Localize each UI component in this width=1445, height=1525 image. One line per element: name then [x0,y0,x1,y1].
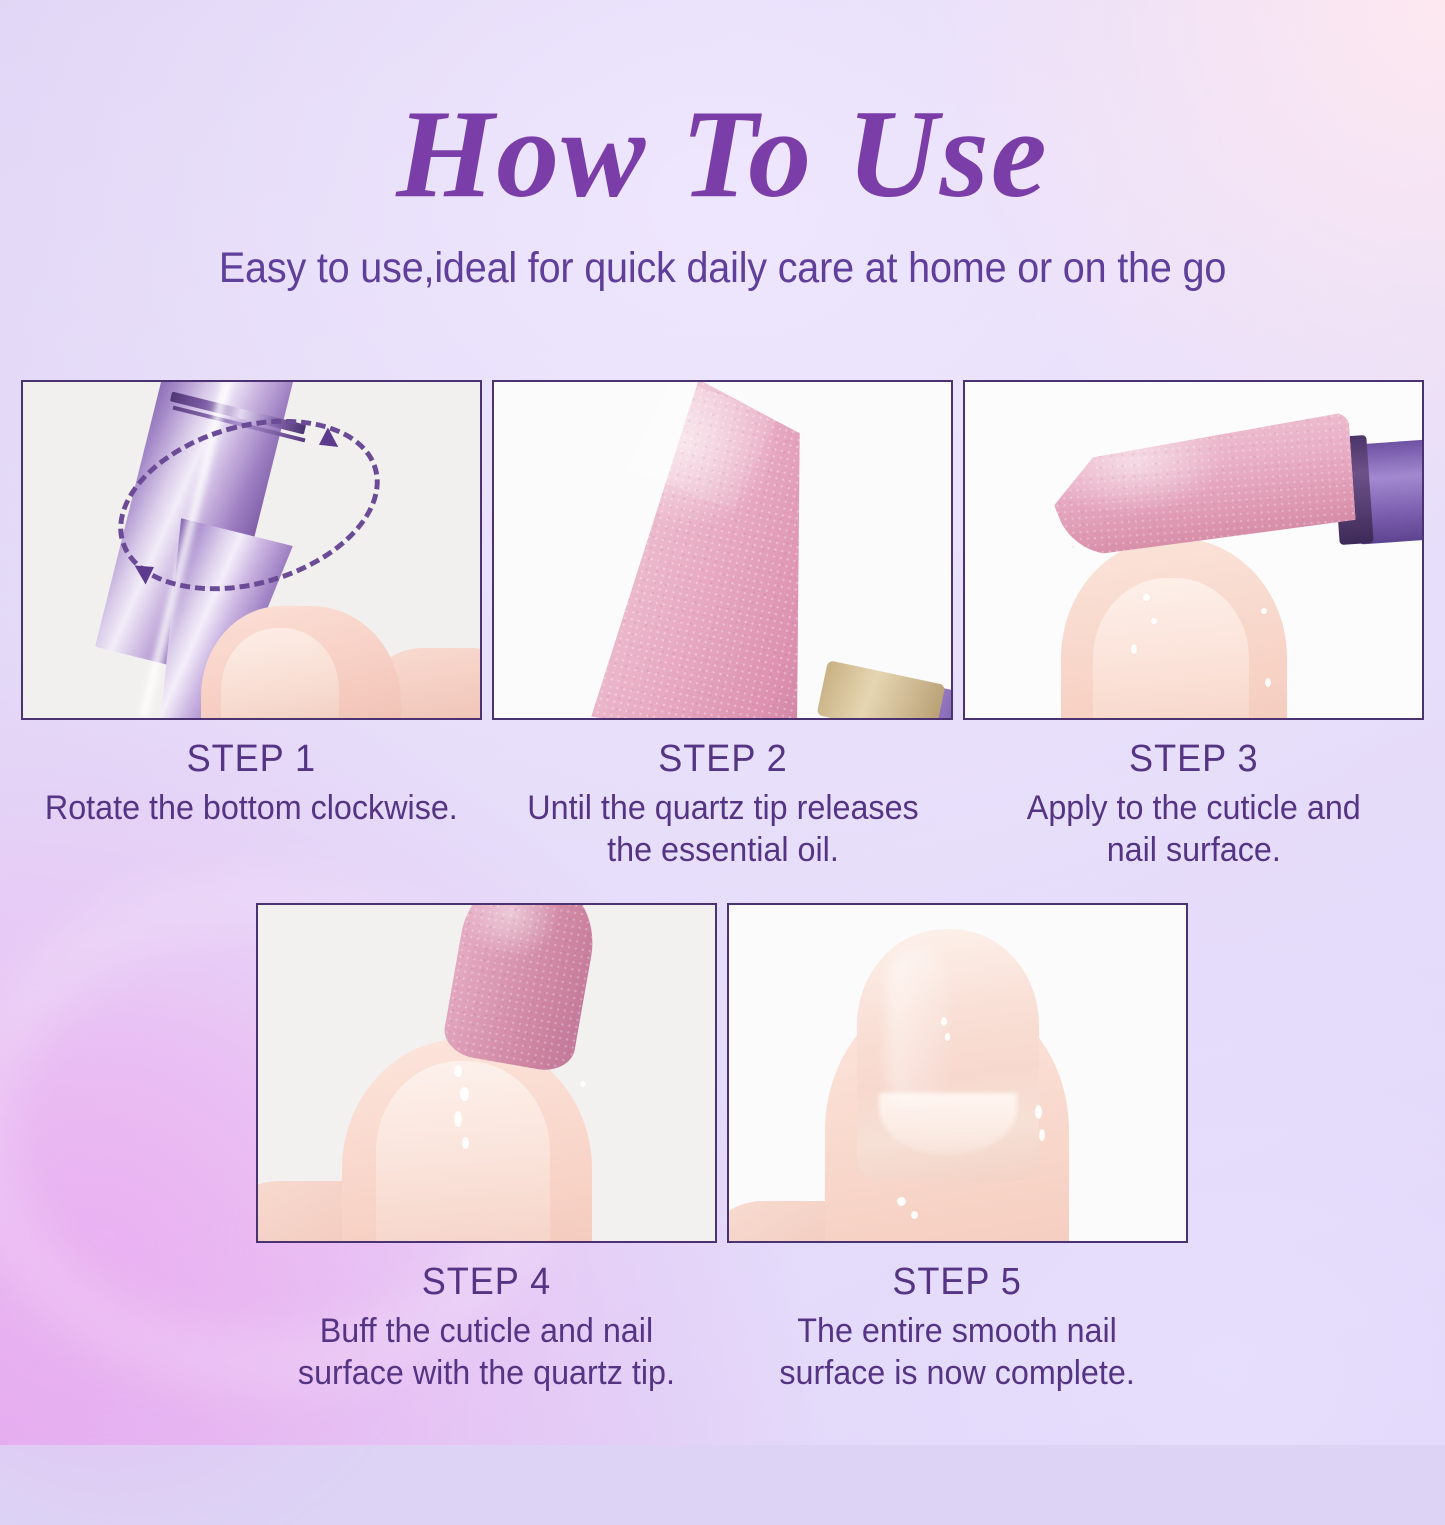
step-description: Rotate the bottom clockwise. [45,781,458,830]
oil-droplet [1035,1105,1042,1119]
steps-row-top: STEP 1 Rotate the bottom clockwise. STEP… [22,380,1423,872]
step-card-5: STEP 5 The entire smooth nail surface is… [727,903,1188,1395]
oil-droplet [945,1033,950,1041]
infographic-page: How To Use Easy to use,ideal for quick d… [0,0,1445,1445]
oil-droplet [460,1087,469,1101]
fingernail-shape [1093,578,1249,720]
step-card-1: STEP 1 Rotate the bottom clockwise. [21,380,482,872]
nail-shine-highlight [887,949,949,1109]
step-label: STEP 5 [780,1261,1135,1304]
oil-droplet [462,1137,469,1149]
oil-droplet [1039,1129,1045,1141]
step-5-caption: STEP 5 The entire smooth nail surface is… [780,1243,1135,1395]
step-4-caption: STEP 4 Buff the cuticle and nail surface… [298,1243,675,1395]
step-3-caption: STEP 3 Apply to the cuticle and nail sur… [1027,720,1361,872]
oil-droplet [911,1211,918,1219]
oil-droplet [1261,608,1267,614]
oil-droplet [580,1081,586,1087]
oil-droplet [1143,594,1150,601]
oil-droplet [454,1111,462,1127]
oil-droplet [897,1197,906,1206]
step-label: STEP 3 [1027,738,1361,781]
page-title: How To Use [0,0,1445,218]
step-5-photo [727,903,1188,1243]
step-1-photo [21,380,482,720]
oil-droplet [454,1065,462,1077]
step-label: STEP 2 [527,738,918,781]
step-card-4: STEP 4 Buff the cuticle and nail surface… [256,903,717,1395]
oil-droplet [941,1017,947,1026]
steps-row-bottom: STEP 4 Buff the cuticle and nail surface… [256,903,1188,1395]
step-1-caption: STEP 1 Rotate the bottom clockwise. [45,720,458,829]
step-4-photo [256,903,717,1243]
step-description: The entire smooth nail surface is now co… [780,1304,1135,1395]
oil-droplet [1131,644,1137,654]
step-label: STEP 4 [298,1261,675,1304]
oil-droplet [1151,618,1157,624]
step-card-3: STEP 3 Apply to the cuticle and nail sur… [963,380,1424,872]
page-subtitle: Easy to use,ideal for quick daily care a… [58,218,1387,293]
step-2-photo [492,380,953,720]
step-label: STEP 1 [45,738,458,781]
step-description: Until the quartz tip releases the essent… [527,781,918,872]
step-2-caption: STEP 2 Until the quartz tip releases the… [527,720,918,872]
header: How To Use Easy to use,ideal for quick d… [0,0,1445,293]
step-card-2: STEP 2 Until the quartz tip releases the… [492,380,953,872]
step-description: Buff the cuticle and nail surface with t… [298,1304,675,1395]
step-description: Apply to the cuticle and nail surface. [1027,781,1361,872]
step-3-photo [963,380,1424,720]
oil-droplet [1265,678,1271,687]
